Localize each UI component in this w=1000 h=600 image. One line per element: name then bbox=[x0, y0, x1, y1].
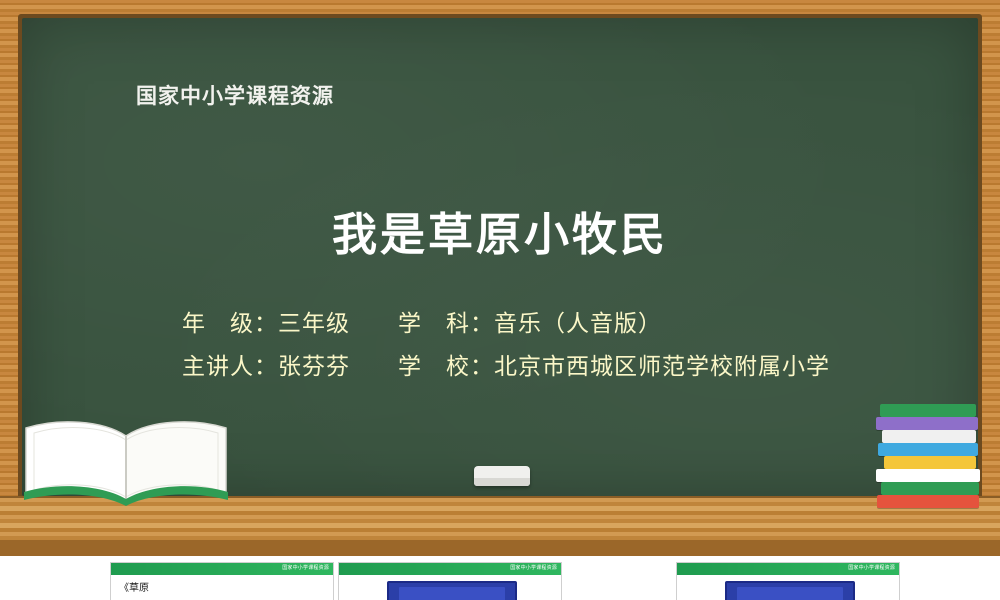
metadata-row: 主讲人：张芬芬学 校：北京市西城区师范学校附属小学 bbox=[182, 346, 830, 389]
lecturer-label: 主讲人： bbox=[182, 354, 278, 380]
grade-value: 三年级 bbox=[278, 311, 350, 337]
slide-canvas: 国家中小学课程资源 我是草原小牧民 年 级：三年级学 科：音乐（人音版） 主讲人… bbox=[0, 0, 1000, 556]
grade-label: 年 级： bbox=[182, 311, 278, 337]
thumbnail-blue-panel bbox=[725, 581, 855, 600]
eraser-band bbox=[474, 478, 530, 486]
thumbnail-blue-panel-inner bbox=[399, 587, 505, 600]
slide-thumbnail-strip[interactable]: 国家中小学课程资源 《草原 国家中小学课程资源 国家中小学课程资源 bbox=[0, 556, 1000, 600]
thumbnail-caption: 《草原 bbox=[119, 579, 149, 594]
thumbnail-brand-badge: 国家中小学课程资源 bbox=[848, 564, 895, 571]
thumbnail-header-band: 国家中小学课程资源 bbox=[339, 563, 561, 575]
metadata-row: 年 级：三年级学 科：音乐（人音版） bbox=[182, 303, 830, 346]
page-title: 我是草原小牧民 bbox=[0, 198, 1000, 263]
thumbnail-brand-badge: 国家中小学课程资源 bbox=[510, 564, 557, 571]
thumbnail-header-band: 国家中小学课程资源 bbox=[111, 563, 333, 575]
slide-thumbnail[interactable]: 国家中小学课程资源 bbox=[338, 562, 562, 600]
lecturer-value: 张芬芬 bbox=[278, 354, 350, 380]
presentation-viewer: 国家中小学课程资源 我是草原小牧民 年 级：三年级学 科：音乐（人音版） 主讲人… bbox=[0, 0, 1000, 600]
subject-value: 音乐（人音版） bbox=[494, 311, 662, 337]
school-label: 学 校： bbox=[398, 354, 494, 380]
slide-metadata: 年 级：三年级学 科：音乐（人音版） 主讲人：张芬芬学 校：北京市西城区师范学校… bbox=[182, 303, 830, 389]
chalkboard-ledge-edge bbox=[0, 540, 1000, 556]
thumbnail-blue-panel-inner bbox=[737, 587, 843, 600]
subject-label: 学 科： bbox=[398, 311, 494, 337]
open-book-icon bbox=[18, 414, 234, 506]
thumbnail-header-band: 国家中小学课程资源 bbox=[677, 563, 899, 575]
slide-thumbnail[interactable]: 国家中小学课程资源 《草原 bbox=[110, 562, 334, 600]
school-value: 北京市西城区师范学校附属小学 bbox=[494, 354, 830, 380]
slide-thumbnail[interactable]: 国家中小学课程资源 bbox=[676, 562, 900, 600]
brand-title: 国家中小学课程资源 bbox=[136, 80, 334, 110]
thumbnail-brand-badge: 国家中小学课程资源 bbox=[282, 564, 329, 571]
book-stack-icon bbox=[876, 404, 986, 506]
thumbnail-blue-panel bbox=[387, 581, 517, 600]
eraser-icon bbox=[474, 466, 530, 486]
